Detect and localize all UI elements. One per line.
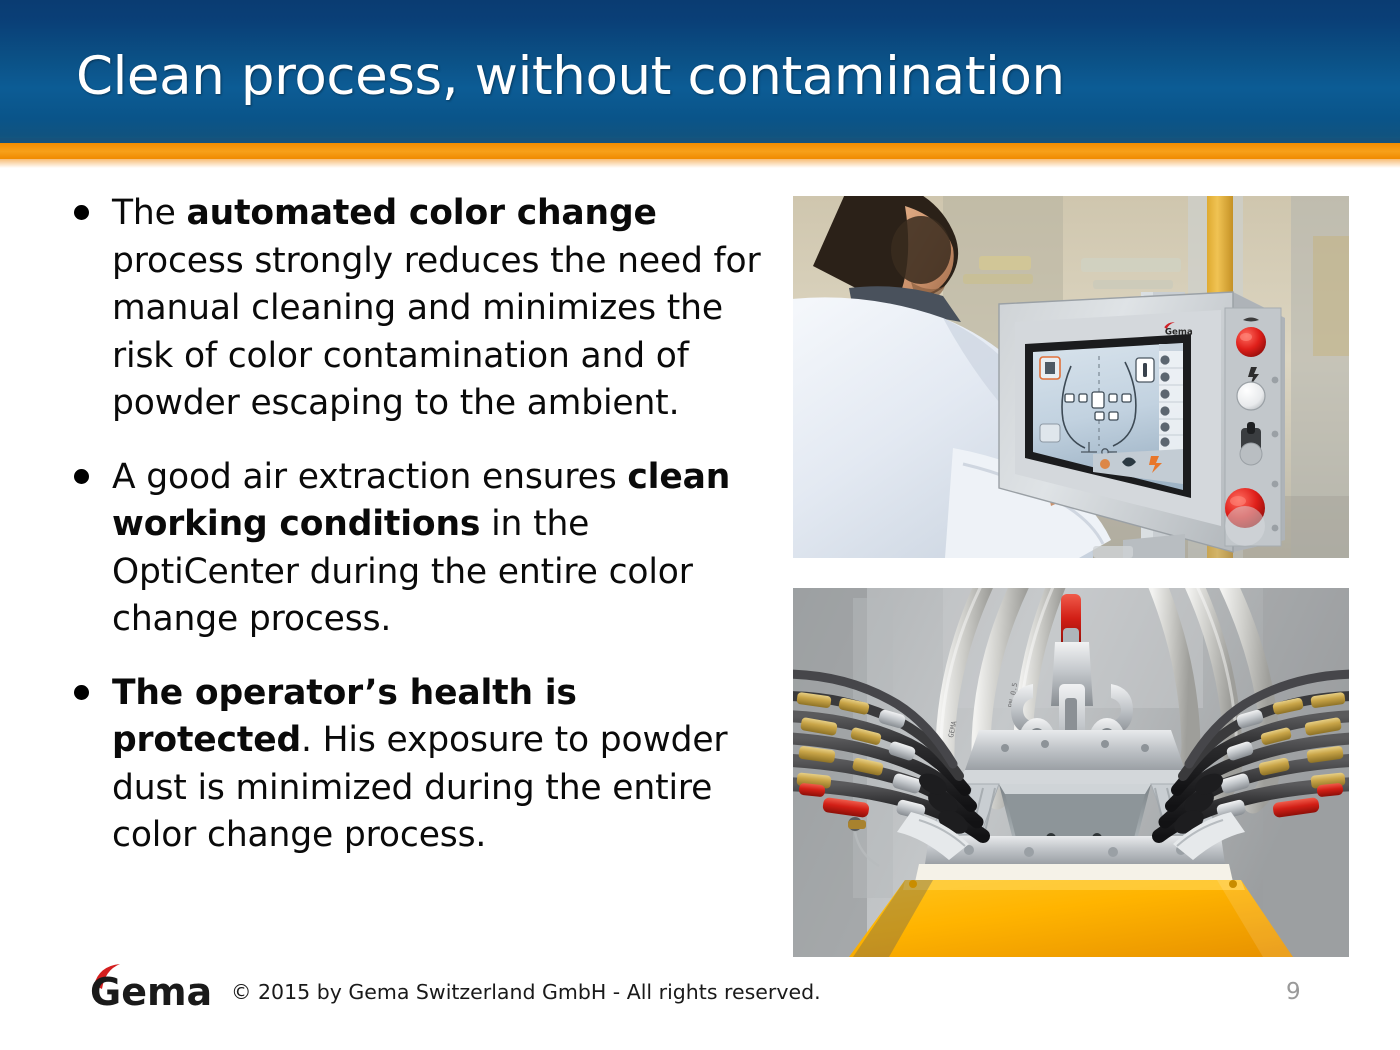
- bullet-dot-icon: [74, 469, 89, 484]
- plain-text: A good air extraction ensures: [112, 457, 627, 497]
- list-item: A good air extraction ensures clean work…: [60, 454, 770, 644]
- plain-text: The: [112, 193, 187, 233]
- list-item: The operator’s health is protected. His …: [60, 670, 770, 860]
- gema-logo: Gema: [86, 963, 214, 1015]
- page-title: Clean process, without contamination: [76, 46, 1065, 107]
- bullet-dot-icon: [74, 685, 89, 700]
- page-number: 9: [1286, 979, 1301, 1005]
- svg-text:Gema: Gema: [1165, 328, 1193, 338]
- bullet-text-automated-color-change: The automated color change process stron…: [112, 190, 770, 428]
- bullet-text-air-extraction: A good air extraction ensures clean work…: [112, 454, 770, 644]
- accent-bar: [0, 143, 1400, 159]
- photo-operator-control-panel: Gema: [793, 196, 1349, 558]
- bullet-text-operator-health: The operator’s health is protected. His …: [112, 670, 770, 860]
- bullet-list: The automated color change process stron…: [60, 190, 770, 886]
- gema-logo-text: Gema: [90, 970, 212, 1014]
- plain-text: process strongly reduces the need for ma…: [112, 241, 761, 424]
- emphasis-text: automated color change: [187, 193, 657, 233]
- list-item: The automated color change process stron…: [60, 190, 770, 428]
- slide-root: Clean process, without contamination The…: [0, 0, 1400, 1050]
- bullet-dot-icon: [74, 205, 89, 220]
- accent-bar-shadow: [0, 159, 1400, 168]
- slide-header: Clean process, without contamination: [0, 0, 1400, 142]
- copyright-text: © 2015 by Gema Switzerland GmbH - All ri…: [231, 980, 821, 1004]
- photo-injector-manifold: GEMA PN 0.5: [793, 588, 1349, 957]
